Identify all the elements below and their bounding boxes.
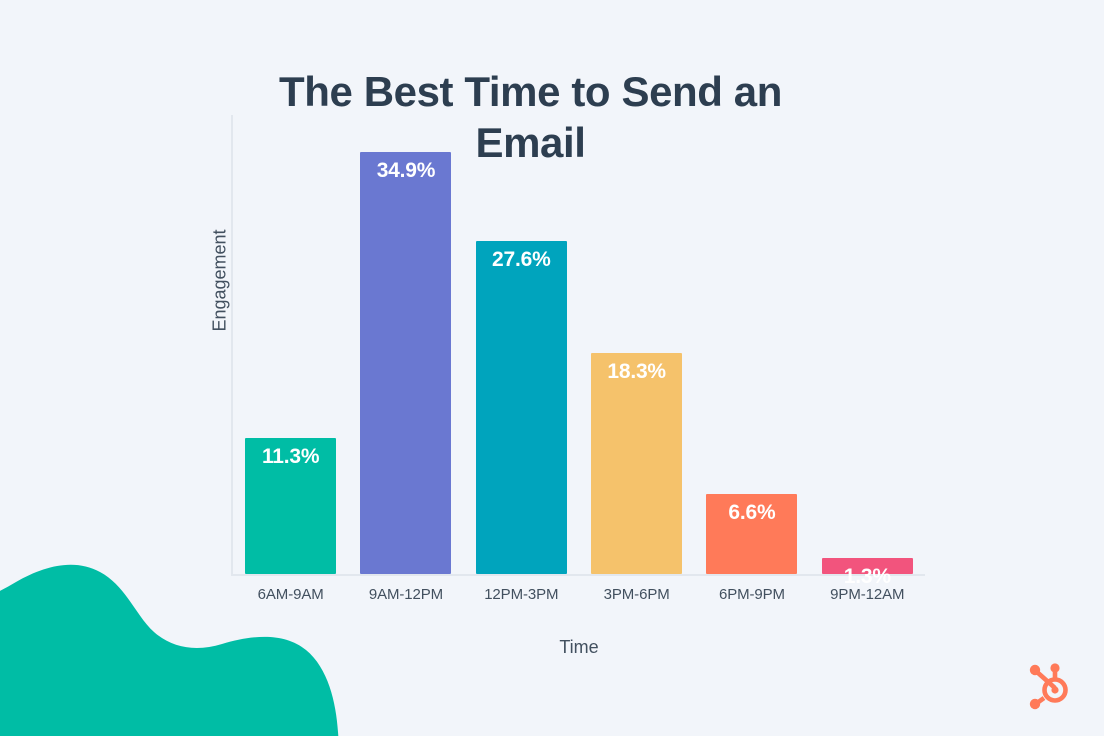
x-tick-label: 12PM-3PM (465, 586, 578, 603)
bar-value-label: 11.3% (262, 438, 319, 469)
x-tick-label: 3PM-6PM (580, 586, 693, 603)
bar-group: 11.3% 34.9% 27.6% 18.3% 6.6% (233, 115, 925, 574)
bar-value-label: 1.3% (844, 558, 891, 589)
bar-value-label: 6.6% (728, 494, 775, 525)
x-tick-label: 9PM-12AM (811, 586, 924, 603)
bar-6pm-9pm[interactable]: 6.6% (706, 494, 797, 574)
bar-6am-9am[interactable]: 11.3% (245, 438, 336, 574)
bar-slot: 6.6% (696, 115, 809, 574)
bar-slot: 18.3% (580, 115, 693, 574)
x-tick-label: 9AM-12PM (350, 586, 463, 603)
bar-3pm-6pm[interactable]: 18.3% (591, 353, 682, 574)
y-axis-title: Engagement (210, 211, 231, 351)
bar-slot: 1.3% (811, 115, 924, 574)
hubspot-sprocket-logo (1024, 658, 1078, 712)
x-axis-line (231, 574, 925, 576)
infographic-canvas: The Best Time to Send an Email Engagemen… (0, 0, 1104, 736)
x-tick-label: 6PM-9PM (696, 586, 809, 603)
bar-slot: 34.9% (350, 115, 463, 574)
bar-12pm-3pm[interactable]: 27.6% (476, 241, 567, 574)
plot-area: 11.3% 34.9% 27.6% 18.3% 6.6% (231, 115, 925, 576)
bar-slot: 11.3% (234, 115, 347, 574)
bar-value-label: 27.6% (492, 241, 551, 272)
bar-value-label: 34.9% (377, 152, 436, 183)
bar-9am-12pm[interactable]: 34.9% (360, 152, 451, 574)
bar-slot: 27.6% (465, 115, 578, 574)
x-axis-title: Time (233, 637, 925, 658)
x-axis-tick-labels: 6AM-9AM 9AM-12PM 12PM-3PM 3PM-6PM 6PM-9P… (233, 586, 925, 603)
bar-9pm-12am[interactable]: 1.3% (822, 558, 913, 574)
x-tick-label: 6AM-9AM (234, 586, 347, 603)
bar-value-label: 18.3% (607, 353, 666, 384)
